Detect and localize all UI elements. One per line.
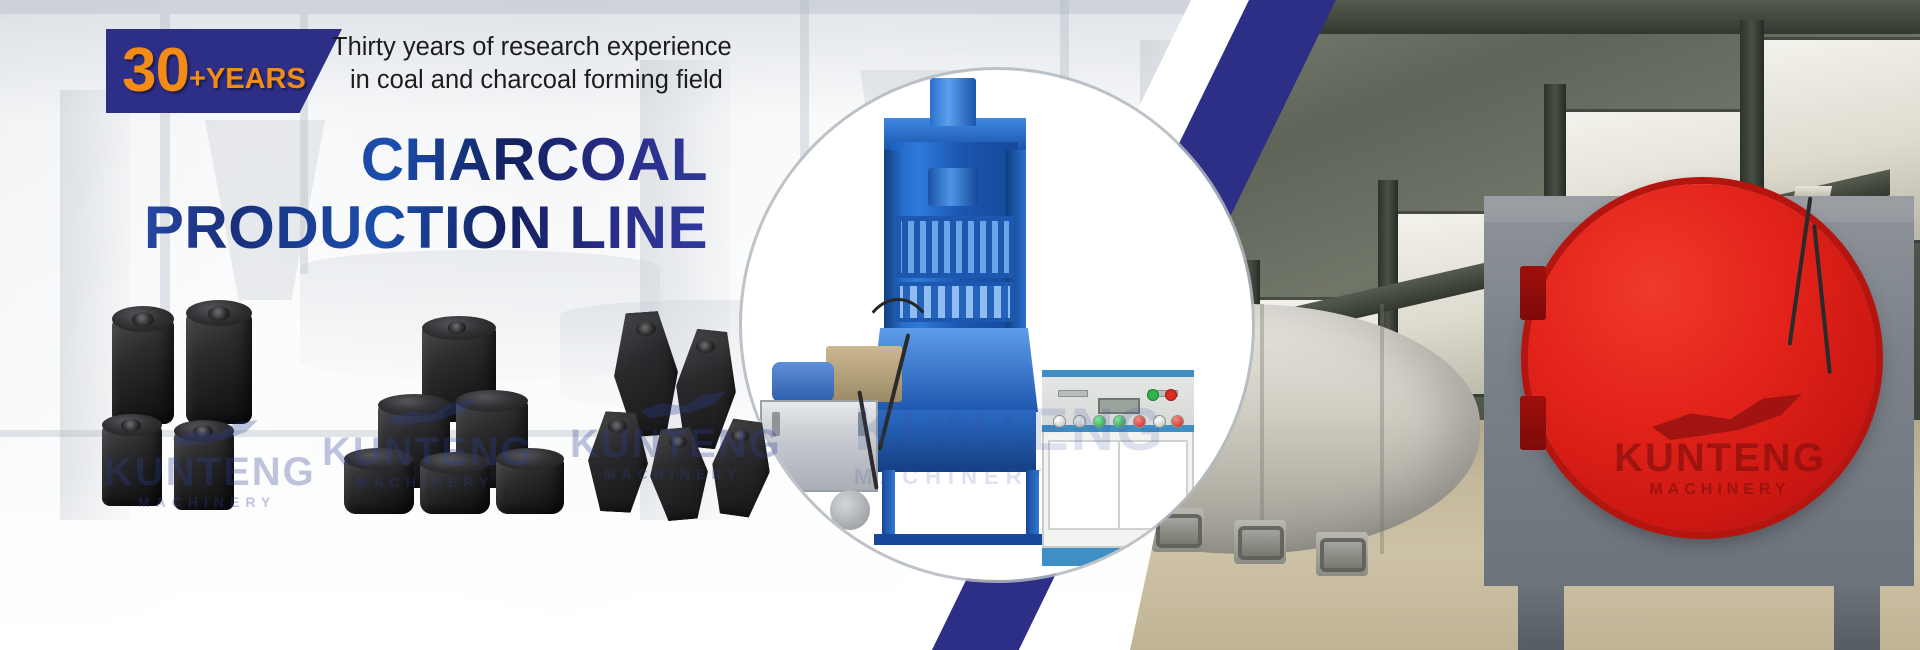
- headline-line-2: PRODUCTION LINE: [108, 194, 708, 262]
- watermark-mid-brand: KUNTENG: [322, 432, 534, 472]
- hex-briquette-1-hole: [636, 322, 656, 336]
- watermark-left: KUNTENG MACHINERY: [104, 452, 316, 509]
- watermark-left-sub: MACHINERY: [138, 495, 316, 509]
- experience-badge-inner: 30 +YEARS: [106, 42, 306, 99]
- press-hydraulic-cylinder: [930, 78, 976, 126]
- machine-circle-cutout: KUNTENG MACHINERY: [742, 70, 1252, 580]
- furnace-brand-text: KUNTENG: [1560, 438, 1880, 478]
- briquette-h2: [186, 312, 252, 424]
- watermark-mid-sub: MACHINERY: [356, 475, 534, 489]
- briquette-h2-hole: [208, 306, 230, 321]
- door-wire-1: [1788, 196, 1813, 345]
- tagline-line-2: in coal and charcoal forming field: [332, 64, 802, 97]
- press-foot-rail: [874, 534, 1046, 545]
- circle-brand-watermark: KUNTENG MACHINERY: [854, 400, 1184, 488]
- headline-line-1: CHARCOAL: [108, 126, 708, 194]
- briquette-h3-hole: [121, 419, 141, 432]
- watermark-mid: KUNTENG MACHINERY: [322, 432, 534, 489]
- press-ram-head: [928, 168, 978, 206]
- experience-badge-number: 30: [122, 42, 189, 99]
- door-hinge-bottom: [1520, 396, 1546, 450]
- circle-brand-text: KUNTENG: [854, 400, 1184, 460]
- furnace-brand-sub: MACHINERY: [1560, 482, 1880, 498]
- watermark-right: KUNTENG MACHINERY: [570, 424, 782, 481]
- hydraulic-pump: [830, 490, 870, 530]
- door-hinge-top: [1520, 266, 1546, 320]
- tagline-line-1: Thirty years of research experience: [332, 33, 732, 61]
- watermark-right-brand: KUNTENG: [570, 424, 782, 464]
- frame-leg-right: [1834, 580, 1880, 650]
- watermark-left-brand: KUNTENG: [104, 452, 316, 492]
- hydraulic-hose-1: [858, 298, 938, 408]
- door-wire-2: [1812, 224, 1832, 374]
- hydraulic-motor: [772, 362, 834, 402]
- led-red: [1166, 390, 1176, 400]
- press-mold-upper: [896, 216, 1014, 278]
- cabinet-panel-edge: [1042, 370, 1194, 377]
- experience-badge-years: +YEARS: [189, 59, 306, 100]
- circle-brand-sub: MACHINERY: [854, 466, 1184, 488]
- frame-leg-left: [1518, 580, 1564, 650]
- briquette-press-illustration: KUNTENG MACHINERY: [742, 70, 1252, 580]
- cabinet-skirt: [1042, 548, 1194, 566]
- pipe-3: [1320, 538, 1366, 572]
- briquette-h1-hole: [132, 312, 154, 327]
- page-title: CHARCOAL PRODUCTION LINE: [108, 126, 708, 262]
- promotional-banner: KUNTENG MACHINERY: [0, 0, 1920, 650]
- briquette-c1-hole: [448, 321, 466, 334]
- watermark-right-sub: MACHINERY: [604, 467, 782, 481]
- hex-briquette-2-hole: [696, 340, 715, 353]
- furnace-brand-watermark: KUNTENG MACHINERY: [1560, 438, 1880, 498]
- tagline: Thirty years of research experience in c…: [332, 31, 802, 97]
- briquette-h1: [112, 318, 174, 424]
